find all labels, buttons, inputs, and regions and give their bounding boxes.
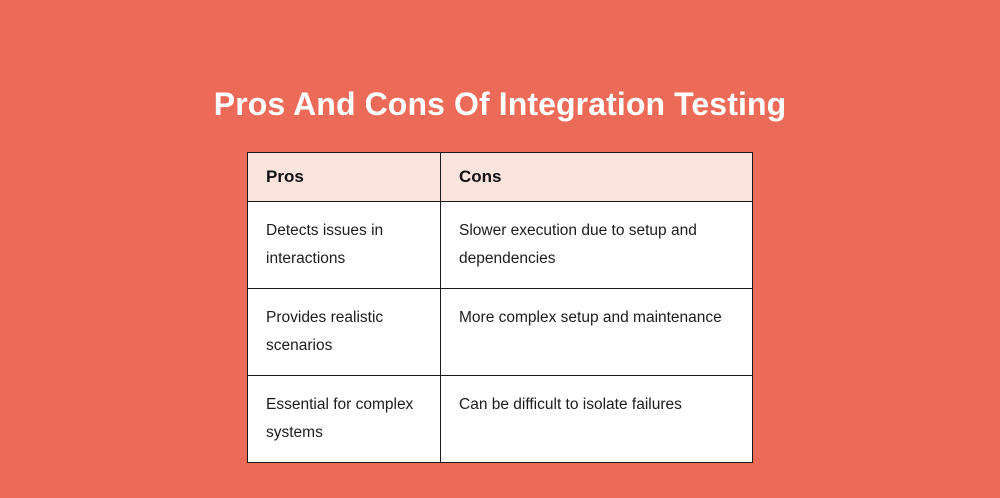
page-title: Pros And Cons Of Integration Testing <box>0 83 1000 125</box>
table-header: Pros Cons <box>248 153 753 202</box>
cell-pros: Detects issues in interactions <box>248 202 441 289</box>
cell-cons: Slower execution due to setup and depend… <box>441 202 753 289</box>
table-header-row: Pros Cons <box>248 153 753 202</box>
column-header-cons: Cons <box>441 153 753 202</box>
pros-cons-table: Pros Cons Detects issues in interactions… <box>247 152 753 463</box>
cell-pros: Essential for complex systems <box>248 376 441 463</box>
table-row: Provides realistic scenarios More comple… <box>248 289 753 376</box>
cell-cons: Can be difficult to isolate failures <box>441 376 753 463</box>
poster-canvas: Pros And Cons Of Integration Testing Pro… <box>0 0 1000 498</box>
table-body: Detects issues in interactions Slower ex… <box>248 202 753 463</box>
column-header-pros: Pros <box>248 153 441 202</box>
table-row: Essential for complex systems Can be dif… <box>248 376 753 463</box>
table-row: Detects issues in interactions Slower ex… <box>248 202 753 289</box>
cell-pros: Provides realistic scenarios <box>248 289 441 376</box>
cell-cons: More complex setup and maintenance <box>441 289 753 376</box>
pros-cons-table-container: Pros Cons Detects issues in interactions… <box>247 152 752 463</box>
